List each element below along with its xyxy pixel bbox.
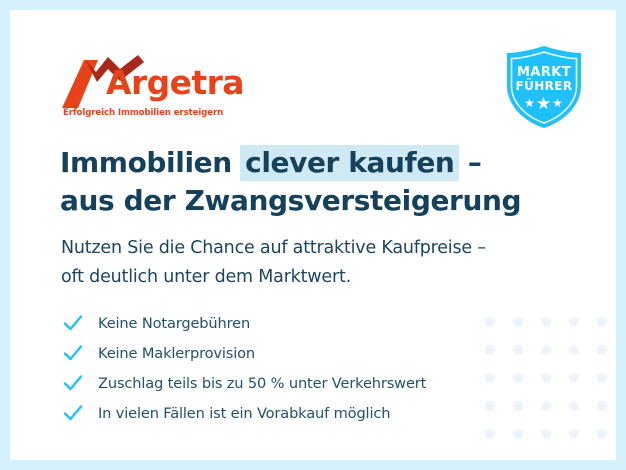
dot — [541, 429, 551, 439]
dot — [513, 373, 523, 383]
headline-line2: aus der Zwangsversteigerung — [60, 184, 521, 217]
benefits-list: Keine Notargebühren Keine Maklerprovisio… — [62, 308, 512, 428]
badge-line-1: MARKT — [501, 65, 587, 80]
dot — [513, 345, 523, 355]
list-item-label: Keine Maklerprovision — [98, 345, 255, 362]
headline-line1-before: Immobilien — [60, 146, 241, 179]
dot — [513, 317, 523, 327]
dot — [597, 317, 607, 327]
headline-highlight: clever kaufen — [240, 145, 459, 181]
dot — [597, 373, 607, 383]
dot — [569, 401, 579, 411]
list-item-label: Zuschlag teils bis zu 50 % unter Verkehr… — [98, 375, 426, 392]
dot — [597, 429, 607, 439]
dot — [597, 401, 607, 411]
list-item: Keine Maklerprovision — [62, 338, 512, 368]
dot — [569, 429, 579, 439]
dot — [569, 345, 579, 355]
logo-tagline: Erfolgreich Immobilien ersteigern — [63, 108, 223, 118]
dot — [485, 429, 495, 439]
check-icon — [62, 372, 84, 394]
dot — [597, 345, 607, 355]
dot — [569, 317, 579, 327]
list-item: In vielen Fällen ist ein Vorabkauf mögli… — [62, 398, 512, 428]
dot — [569, 373, 579, 383]
brand-logo[interactable]: Argetra Erfolgreich Immobilien ersteiger… — [62, 52, 262, 120]
dot — [541, 401, 551, 411]
banner-frame: Argetra Erfolgreich Immobilien ersteiger… — [0, 0, 626, 470]
check-icon — [62, 342, 84, 364]
check-icon — [62, 312, 84, 334]
page-title: Immobilien clever kaufen – aus der Zwang… — [60, 144, 530, 220]
banner-card: Argetra Erfolgreich Immobilien ersteiger… — [10, 10, 616, 460]
badge-line-2: FÜHRER — [501, 79, 587, 93]
subheading-line2: oft deutlich unter dem Marktwert. — [61, 267, 351, 287]
dot — [513, 429, 523, 439]
list-item-label: Keine Notargebühren — [98, 315, 250, 332]
list-item: Keine Notargebühren — [62, 308, 512, 338]
logo-wordmark: Argetra — [106, 66, 244, 99]
badge-stars: ★★★ — [501, 95, 587, 112]
dot-grid-decoration — [500, 308, 616, 453]
dot — [541, 317, 551, 327]
dot — [541, 345, 551, 355]
headline-line1-after: – — [458, 146, 481, 179]
market-leader-badge: MARKT FÜHRER ★★★ — [501, 44, 587, 130]
subheading: Nutzen Sie die Chance auf attraktive Kau… — [61, 234, 541, 292]
check-icon — [62, 402, 84, 424]
list-item: Zuschlag teils bis zu 50 % unter Verkehr… — [62, 368, 512, 398]
list-item-label: In vielen Fällen ist ein Vorabkauf mögli… — [98, 405, 390, 422]
subheading-line1: Nutzen Sie die Chance auf attraktive Kau… — [61, 238, 486, 258]
dot — [541, 373, 551, 383]
dot — [513, 401, 523, 411]
